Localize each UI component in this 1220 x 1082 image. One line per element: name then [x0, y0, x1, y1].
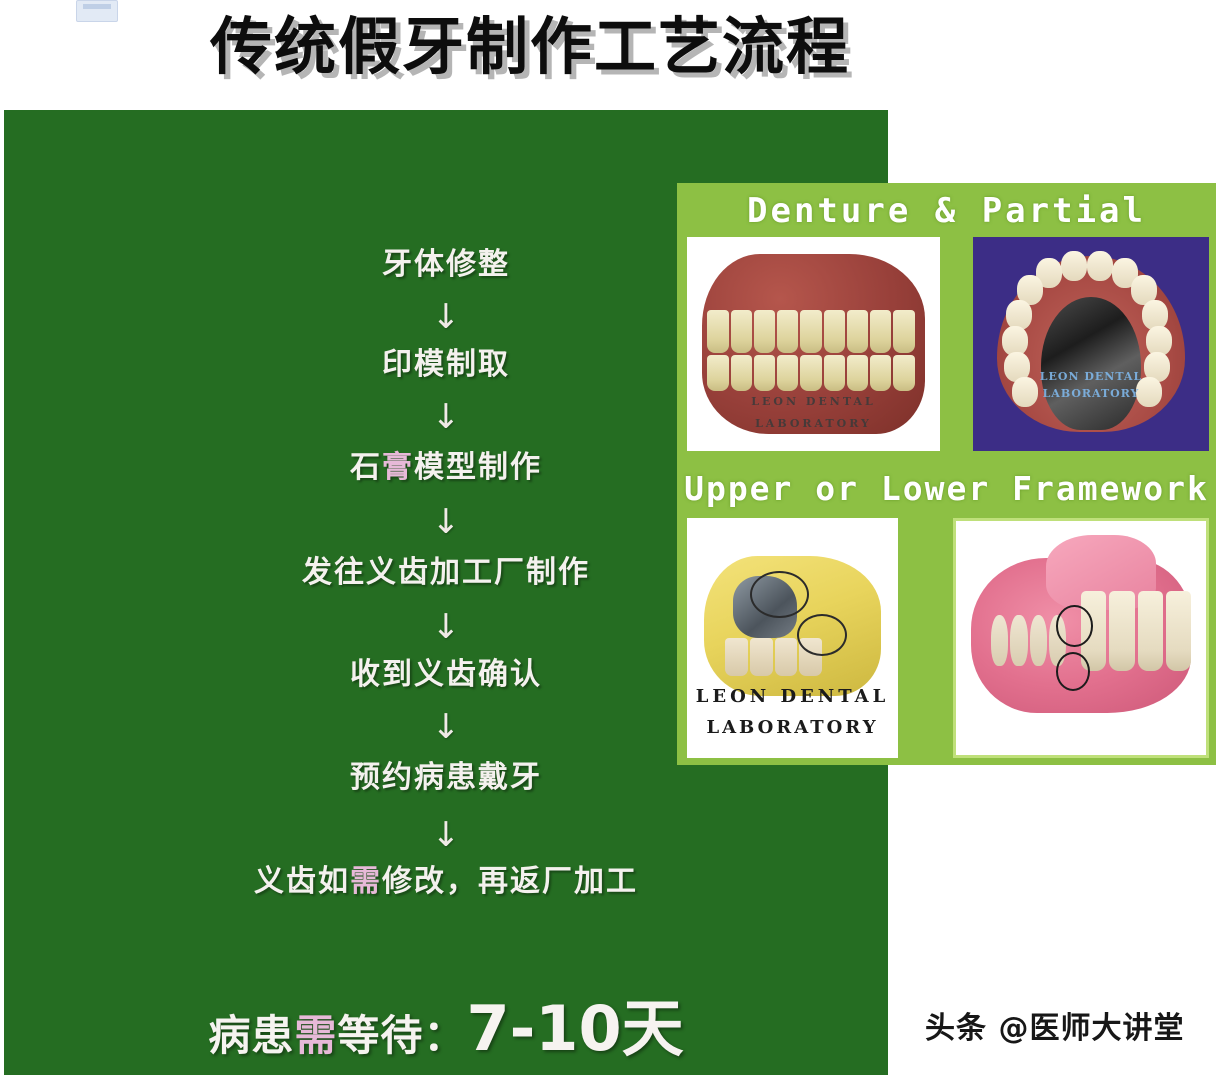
- channel-watermark: 头条 @医师大讲堂: [925, 1003, 1184, 1047]
- poster-canvas: 传统假牙制作工艺流程 牙体修整 ↓ 印模制取 ↓ 石膏模型制作 ↓ 发往义齿加工…: [0, 0, 1220, 1082]
- partial-denture-anterior-teeth: [1081, 591, 1191, 671]
- upper-teeth-row: [707, 310, 914, 353]
- flow-step-7-post: 修改，再返厂加工: [382, 864, 638, 899]
- photo-pink-partial-denture: [953, 518, 1209, 758]
- flow-step-3-post: 模型制作: [414, 450, 542, 485]
- partial-denture-posterior-teeth: [991, 615, 1066, 666]
- summary-patient-wait: 病患需等待：7-10天: [4, 978, 888, 1068]
- photo-yellow-cast-model: LEON DENTAL LABORATORY: [687, 518, 898, 758]
- media-caption-denture-partial: Denture & Partial: [677, 189, 1216, 233]
- summary-1-highlight: 需: [294, 1011, 337, 1060]
- photo-3-watermark-line2: LABORATORY: [687, 717, 898, 738]
- lower-teeth-row: [707, 355, 914, 391]
- flow-step-7-highlight: 需: [350, 864, 382, 899]
- arch-teeth-group: [997, 254, 1186, 429]
- photo-full-denture-side-view: LEON DENTAL LABORATORY: [687, 237, 940, 451]
- media-panel: Denture & Partial Upper or Lower Framewo…: [677, 183, 1216, 765]
- partial-clasp-2: [1056, 652, 1090, 691]
- summary-1-pre: 病患: [208, 1011, 294, 1060]
- flow-step-3-pre: 石: [350, 450, 382, 485]
- summary-1-value: 7-10天: [466, 992, 683, 1065]
- clasp-wire-1: [750, 571, 809, 618]
- partial-clasp-1: [1056, 605, 1093, 646]
- page-title: 传统假牙制作工艺流程: [0, 6, 1060, 88]
- flow-step-3-highlight: 膏: [382, 450, 414, 485]
- flow-step-7-pre: 义齿如: [254, 864, 350, 899]
- media-caption-upper-lower-framework: Upper or Lower Framework: [677, 467, 1216, 511]
- flow-arrow-6: ↓: [4, 818, 888, 852]
- photo-upper-framework: LEON DENTAL LABORATORY: [973, 237, 1209, 451]
- summary-1-post: 等待：: [337, 1011, 466, 1060]
- flow-step-7: 义齿如需修改，再返厂加工: [4, 862, 888, 902]
